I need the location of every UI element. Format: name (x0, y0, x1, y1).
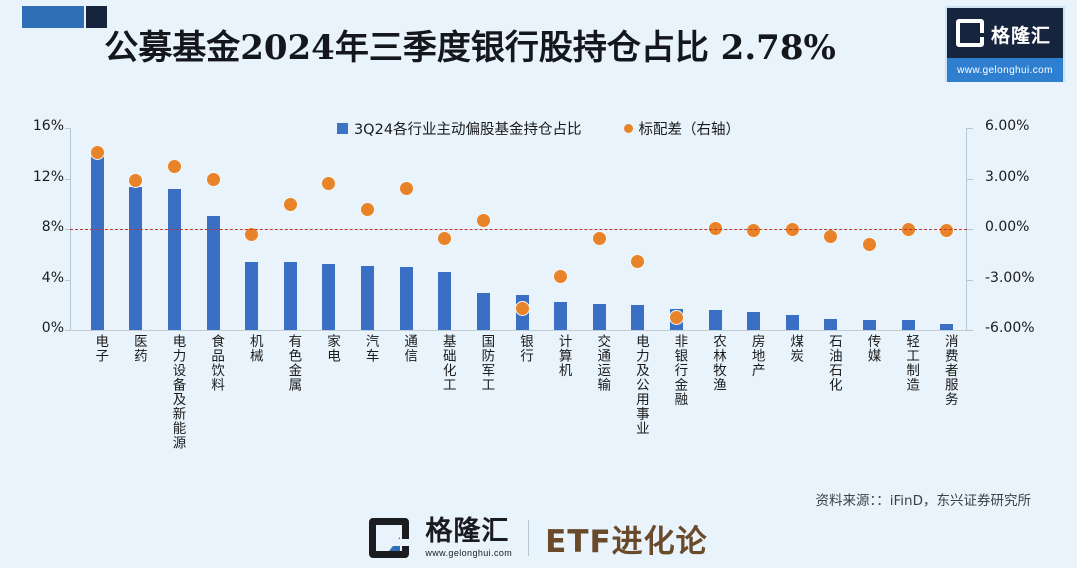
y-axis-right-tick-mark (967, 229, 973, 230)
chart-dot[interactable] (823, 229, 838, 244)
chart-dot[interactable] (630, 254, 645, 269)
footer-brand-url: www.gelonghui.com (425, 548, 512, 558)
chart-dot[interactable] (862, 237, 877, 252)
chart-bar[interactable] (129, 187, 142, 330)
chart-dot[interactable] (283, 197, 298, 212)
x-axis-category-label: 电力设备及新能源 (168, 334, 188, 450)
chart-bar[interactable] (361, 266, 374, 330)
chart-dot[interactable] (437, 231, 452, 246)
chart-bar[interactable] (554, 302, 567, 330)
chart-bar[interactable] (747, 312, 760, 330)
chart-bar[interactable] (284, 262, 297, 330)
chart-dot[interactable] (360, 202, 375, 217)
x-axis-category-label: 非银行金融 (669, 334, 689, 407)
y-axis-right-tick-label: -6.00% (985, 320, 1035, 336)
x-axis-category-label: 轻工制造 (901, 334, 921, 392)
x-axis-category-label: 农林牧渔 (708, 334, 728, 392)
source-note: 资料来源：：iFinD，东兴证券研究所 (816, 489, 1032, 509)
chart-dot[interactable] (167, 159, 182, 174)
footer-brand-bar: 格隆汇 www.gelonghui.com ETF进化论 (0, 508, 1077, 568)
page-header: 公募基金2024年三季度银行股持仓占比 2.78% 格隆汇 www.gelong… (0, 0, 1077, 95)
chart-dot[interactable] (592, 231, 607, 246)
y-axis-right-tick-label: 0.00% (985, 219, 1029, 235)
chart-bar[interactable] (400, 267, 413, 330)
chart-dot[interactable] (669, 310, 684, 325)
footer-program-name: ETF进化论 (545, 516, 708, 561)
x-axis-category-label: 石油石化 (824, 334, 844, 392)
chart-bar[interactable] (863, 320, 876, 330)
chart-dot[interactable] (321, 176, 336, 191)
y-axis-left-tick-label: 12% (20, 169, 64, 185)
chart-dot[interactable] (206, 172, 221, 187)
zero-reference-line (70, 229, 967, 230)
gelonghui-g-icon (369, 518, 409, 558)
chart-bar[interactable] (438, 272, 451, 330)
y-axis-left-tick-mark (65, 330, 71, 331)
chart-dot[interactable] (746, 223, 761, 238)
x-axis-category-label: 通信 (399, 334, 419, 363)
x-axis-category-label: 基础化工 (438, 334, 458, 392)
x-axis-category-label: 机械 (245, 334, 265, 363)
y-axis-right-tick-mark (967, 128, 973, 129)
x-axis-category-label: 有色金属 (283, 334, 303, 392)
x-axis-category-label: 家电 (322, 334, 342, 363)
y-axis-left-tick-mark (65, 128, 71, 129)
chart-bar[interactable] (477, 293, 490, 330)
x-axis-category-label: 计算机 (554, 334, 574, 378)
chart-bar[interactable] (593, 304, 606, 331)
x-axis-category-label: 银行 (515, 334, 535, 363)
chart-bar[interactable] (824, 319, 837, 330)
y-axis-left-tick-label: 4% (20, 270, 64, 286)
y-axis-right-tick-mark (967, 179, 973, 180)
x-axis-category-label: 传媒 (862, 334, 882, 363)
chart-dot[interactable] (476, 213, 491, 228)
y-axis-right-tick-label: 6.00% (985, 118, 1029, 134)
chart-dot[interactable] (90, 145, 105, 160)
chart-bar[interactable] (207, 216, 220, 330)
y-axis-left-tick-label: 0% (20, 320, 64, 336)
chart-bar[interactable] (631, 305, 644, 330)
y-axis-right-tick-label: 3.00% (985, 169, 1029, 185)
x-axis-category-label: 电子 (90, 334, 110, 363)
page-title: 公募基金2024年三季度银行股持仓占比 2.78% (0, 20, 940, 69)
footer-divider (528, 520, 529, 556)
x-axis-category-label: 交通运输 (592, 334, 612, 392)
x-axis-baseline (70, 330, 967, 331)
x-axis-category-labels: 电子医药电力设备及新能源食品饮料机械有色金属家电汽车通信基础化工国防军工银行计算… (78, 334, 966, 484)
brand-url: www.gelonghui.com (947, 58, 1063, 82)
chart-dot[interactable] (515, 301, 530, 316)
chart-bar[interactable] (168, 189, 181, 330)
chart-bar[interactable] (245, 262, 258, 330)
chart-bar[interactable] (786, 315, 799, 330)
chart-dot[interactable] (939, 223, 954, 238)
x-axis-category-label: 国防军工 (476, 334, 496, 392)
brand-name: 格隆汇 (991, 21, 1051, 48)
y-axis-right-tick-mark (967, 280, 973, 281)
chart-bar[interactable] (91, 149, 104, 330)
y-axis-left-tick-label: 8% (20, 219, 64, 235)
gelonghui-g-icon (956, 19, 984, 47)
x-axis-category-label: 医药 (129, 334, 149, 363)
y-axis-left-tick-mark (65, 179, 71, 180)
chart-dot[interactable] (553, 269, 568, 284)
x-axis-category-label: 食品饮料 (206, 334, 226, 392)
chart-bar[interactable] (709, 310, 722, 330)
x-axis-category-label: 消费者服务 (940, 334, 960, 407)
chart-dot[interactable] (128, 173, 143, 188)
footer-brand-name: 格隆汇 (425, 518, 509, 545)
y-axis-left-tick-label: 16% (20, 118, 64, 134)
chart-bar[interactable] (322, 264, 335, 330)
brand-logo: 格隆汇 www.gelonghui.com (945, 6, 1065, 82)
chart-bar[interactable] (940, 324, 953, 330)
chart-bar[interactable] (902, 320, 915, 330)
x-axis-category-label: 汽车 (361, 334, 381, 363)
y-axis-right-tick-label: -3.00% (985, 270, 1035, 286)
y-axis-left-tick-mark (65, 280, 71, 281)
x-axis-category-label: 房地产 (747, 334, 767, 378)
x-axis-category-label: 煤炭 (785, 334, 805, 363)
y-axis-right-tick-mark (967, 330, 973, 331)
chart-dot[interactable] (399, 181, 414, 196)
x-axis-category-label: 电力及公用事业 (631, 334, 651, 436)
